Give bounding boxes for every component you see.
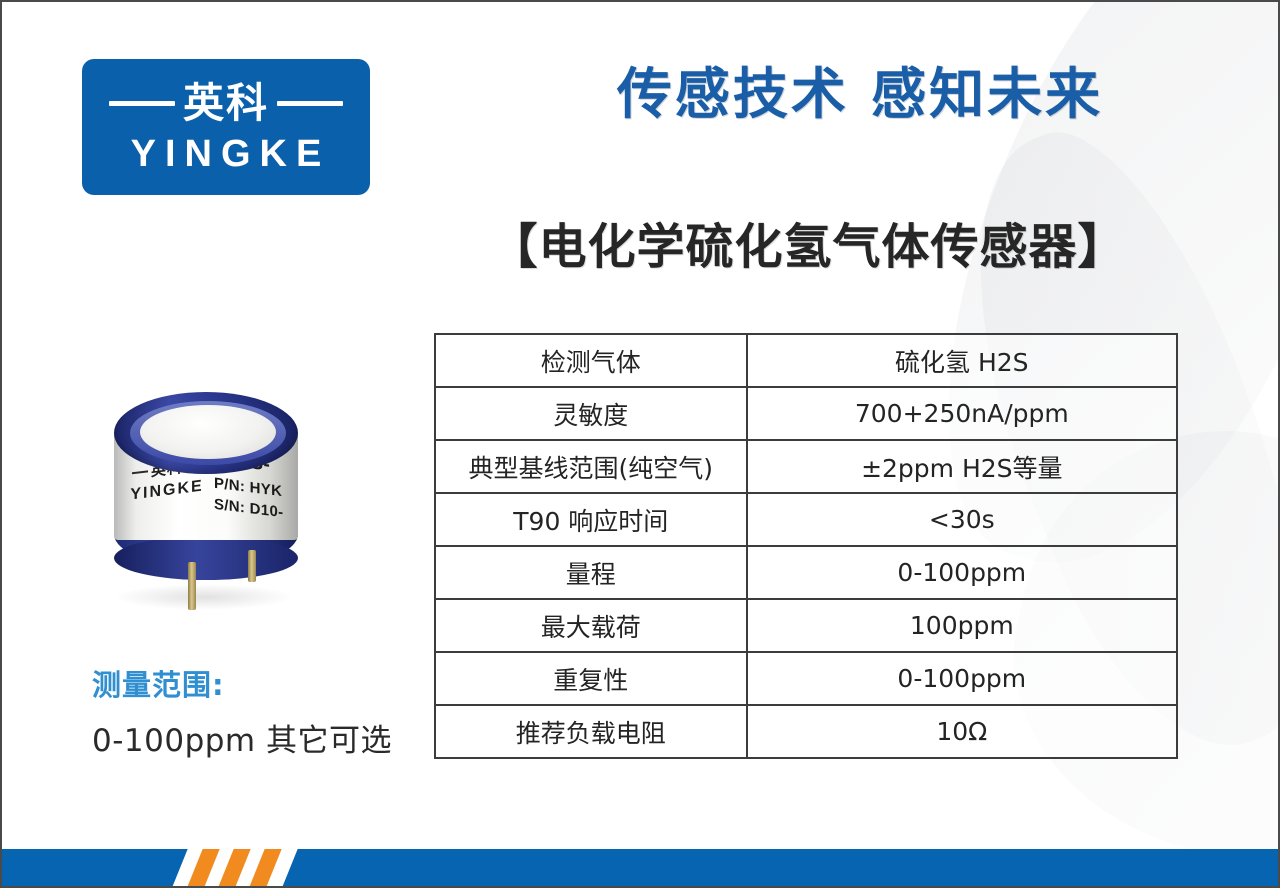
- sensor-body: 英科 YINGKE 4H2S- P/N: HYK S/N: D10-: [112, 390, 300, 566]
- table-row: 重复性 0-100ppm: [435, 652, 1177, 705]
- footer-stripe-icon: [214, 849, 254, 886]
- spec-label: 推荐负载电阻: [435, 705, 747, 758]
- logo-chinese-name: 英科: [183, 83, 269, 124]
- measurement-range-value: 0-100ppm 其它可选: [92, 715, 392, 760]
- sensor-membrane: [140, 405, 276, 459]
- logo-chinese-row: 英科: [82, 83, 370, 124]
- label-dash-left-icon: [132, 470, 148, 474]
- spec-value: 10Ω: [747, 705, 1177, 758]
- table-row: 检测气体 硫化氢 H2S: [435, 334, 1177, 387]
- logo-rule-right-icon: [277, 101, 343, 106]
- sensor-base-bottom: [114, 536, 298, 580]
- sensor-pin: [188, 562, 196, 610]
- table-row: 最大载荷 100ppm: [435, 599, 1177, 652]
- background-swirl-arc: [768, 2, 1278, 332]
- logo-english-name: YINGKE: [122, 135, 331, 173]
- spec-label: 检测气体: [435, 334, 747, 387]
- footer-slash-panel: [171, 849, 300, 886]
- product-photo-shadow: [114, 584, 294, 610]
- product-photo-sensor: 英科 YINGKE 4H2S- P/N: HYK S/N: D10-: [106, 382, 316, 632]
- spec-value: <30s: [747, 493, 1177, 546]
- table-row: 推荐负载电阻 10Ω: [435, 705, 1177, 758]
- spec-label: T90 响应时间: [435, 493, 747, 546]
- spec-label: 最大载荷: [435, 599, 747, 652]
- spec-label: 典型基线范围(纯空气): [435, 440, 747, 493]
- spec-label: 重复性: [435, 652, 747, 705]
- sensor-pin: [248, 550, 256, 582]
- table-row: 灵敏度 700+250nA/ppm: [435, 387, 1177, 440]
- spec-value: 700+250nA/ppm: [747, 387, 1177, 440]
- spec-value: 0-100ppm: [747, 546, 1177, 599]
- spec-value: 0-100ppm: [747, 652, 1177, 705]
- footer-bar: [2, 849, 1278, 886]
- table-row: 量程 0-100ppm: [435, 546, 1177, 599]
- spec-label: 灵敏度: [435, 387, 747, 440]
- measurement-range-label: 测量范围:: [92, 662, 225, 704]
- footer-stripe-icon: [245, 849, 285, 886]
- specification-table-body: 检测气体 硫化氢 H2S 灵敏度 700+250nA/ppm 典型基线范围(纯空…: [435, 334, 1177, 758]
- spec-value: 硫化氢 H2S: [747, 334, 1177, 387]
- spec-value: ±2ppm H2S等量: [747, 440, 1177, 493]
- table-row: 典型基线范围(纯空气) ±2ppm H2S等量: [435, 440, 1177, 493]
- poster-page: 英科 YINGKE 传感技术 感知未来 【电化学硫化氢气体传感器】 检测气体 硫…: [0, 0, 1280, 888]
- spec-value: 100ppm: [747, 599, 1177, 652]
- table-row: T90 响应时间 <30s: [435, 493, 1177, 546]
- header-tagline: 传感技术 感知未来: [580, 62, 1140, 127]
- spec-label: 量程: [435, 546, 747, 599]
- footer-stripe-icon: [183, 849, 223, 886]
- sensor-top-rim: [114, 392, 298, 474]
- specification-table: 检测气体 硫化氢 H2S 灵敏度 700+250nA/ppm 典型基线范围(纯空…: [434, 333, 1178, 759]
- page-title: 【电化学硫化氢气体传感器】: [434, 219, 1182, 277]
- logo-rule-left-icon: [109, 101, 175, 106]
- brand-logo: 英科 YINGKE: [82, 59, 370, 195]
